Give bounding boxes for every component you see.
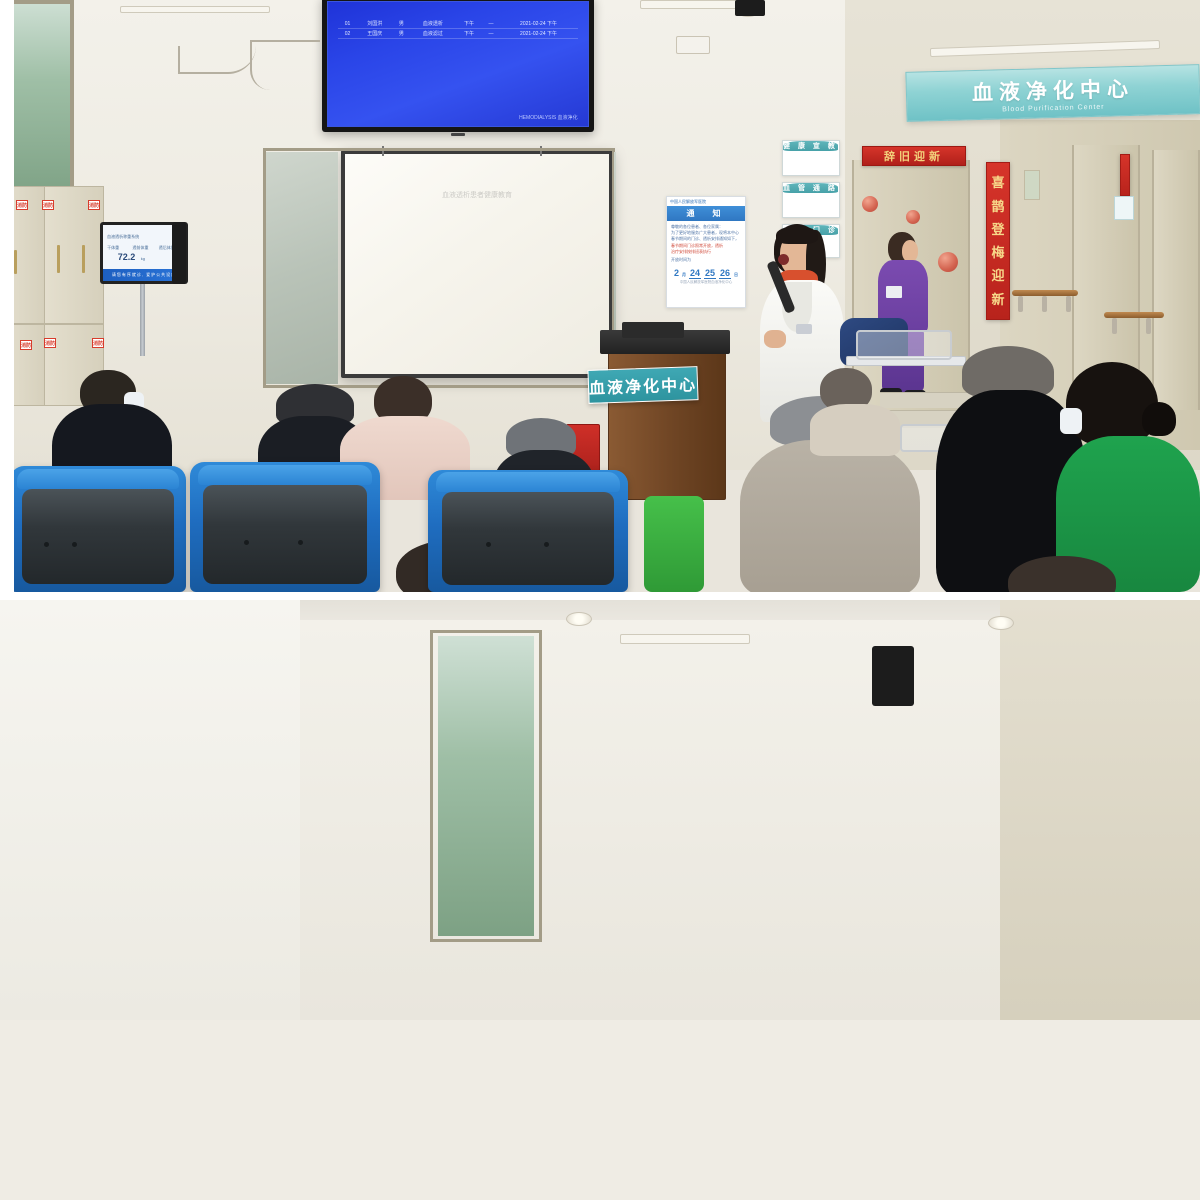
notice-poster: 中国人民解放军医院 通 知 尊敬的各位患者、各位家属： 为了更好地服务广大患者，… — [666, 196, 746, 308]
chair-backrest — [203, 485, 366, 584]
chair-back-lip — [17, 469, 179, 489]
door-notice — [1114, 196, 1134, 220]
badge — [796, 324, 812, 334]
waiting-chair[interactable] — [190, 462, 380, 592]
notice-highlight: 治疗安排按排班表执行 — [671, 249, 741, 255]
tv-watermark: HEMODIALYSIS 血液净化 — [519, 114, 578, 121]
cell-mode: 血液透析 — [410, 19, 456, 29]
month-unit: 月 — [682, 272, 686, 278]
chair-rivet — [298, 540, 303, 545]
wall-sign-card: 科室介绍 健 康 宣 教 — [782, 140, 840, 176]
couplet-char: 梅 — [991, 246, 1004, 259]
cell-shift: 下午 — [456, 19, 483, 29]
downlight-icon — [566, 612, 592, 626]
door-notice — [1024, 170, 1040, 200]
monitor-title: 血液透析称重系统 — [107, 234, 139, 240]
cell-name: 王国庆 — [357, 29, 393, 39]
date-value: 24 — [689, 268, 701, 279]
monitor-field: 干体重 — [107, 245, 119, 251]
couplet-char: 鹊 — [991, 200, 1004, 213]
ceiling-light-strip — [120, 6, 270, 13]
sign-label: 血 管 通 路 — [783, 183, 838, 193]
photo-collage: 01 刘国洪 男 血液透析 下午 — 2021-02-24 下午 02 王国庆 … — [0, 0, 1200, 1200]
hand — [764, 330, 786, 348]
knit-sweater — [740, 440, 920, 592]
cell-shift: 下午 — [456, 29, 483, 39]
lectern-sign: 血液净化中心 — [587, 366, 698, 404]
cable — [250, 40, 320, 90]
date-value: 26 — [719, 268, 731, 279]
cell-time: 2021-02-24 下午 — [500, 29, 578, 39]
ceiling-speaker — [735, 0, 765, 16]
couplet-char: 喜 — [991, 176, 1004, 189]
couplet-char: 新 — [991, 293, 1004, 306]
lectern-laptop[interactable] — [622, 322, 684, 338]
window-glass — [266, 152, 338, 384]
cell-bed: 01 — [338, 19, 356, 29]
notice-title: 通 知 — [667, 206, 745, 221]
fire-safety-label: 消防 — [88, 200, 100, 210]
wall-left — [0, 600, 300, 1020]
new-year-horizontal-scroll: 辞旧迎新 — [862, 146, 966, 166]
monitor-field: 透前体重 — [133, 245, 149, 251]
tv-patient-table: 01 刘国洪 男 血液透析 下午 — 2021-02-24 下午 02 王国庆 … — [338, 19, 577, 39]
notice-footer: 中国人民解放军医院血液净化中心 — [667, 280, 745, 287]
couplet-char: 登 — [991, 223, 1004, 236]
audience-member — [1008, 556, 1118, 592]
new-year-couplet: 喜 鹊 登 梅 迎 新 — [986, 162, 1010, 320]
table-row: 01 刘国洪 男 血液透析 下午 — 2021-02-24 下午 — [338, 19, 577, 29]
head — [1066, 362, 1158, 446]
notice-dates: 2 月 24 25 26 日 — [667, 266, 745, 280]
chair-rivet — [72, 542, 77, 547]
cell-status: — — [482, 29, 499, 39]
chair-rivet — [44, 542, 49, 547]
table-row: 02 王国庆 男 血液滤过 下午 — 2021-02-24 下午 — [338, 29, 577, 39]
cell-mode: 血液滤过 — [410, 29, 456, 39]
weight-unit: kg — [141, 256, 145, 261]
chair-rivet — [486, 542, 491, 547]
audience-member — [810, 368, 900, 448]
face-mask — [1060, 408, 1082, 434]
green-chair[interactable] — [644, 496, 704, 592]
locker-handle[interactable] — [14, 250, 17, 274]
hair-bun — [1142, 402, 1176, 436]
chair-backrest — [22, 489, 173, 585]
new-year-couplet-small — [1120, 154, 1130, 196]
couplet-char: 迎 — [991, 269, 1004, 282]
photo-top: 01 刘国洪 男 血液透析 下午 — 2021-02-24 下午 02 王国庆 … — [0, 0, 1200, 592]
cell-sex: 男 — [393, 29, 410, 39]
light-coat — [810, 404, 900, 456]
center-banner-cn: 血液净化中心 — [972, 72, 1135, 106]
cell-name: 刘国洪 — [357, 19, 393, 29]
new-year-sticker — [862, 196, 878, 212]
chair-backrest — [442, 492, 614, 585]
locker-handle[interactable] — [57, 245, 60, 273]
fire-safety-label: 消防 — [92, 338, 104, 348]
photo-bottom: 中国大学附属二院 2021-02-24 星期三 14:26 床号 姓名 治疗方式… — [0, 600, 1200, 1200]
cell-status: — — [482, 19, 499, 29]
handrail-post — [1042, 296, 1047, 312]
wall-right — [1000, 600, 1200, 1020]
fire-safety-label: 消防 — [42, 200, 54, 210]
new-year-sticker — [938, 252, 958, 272]
info-display-tv[interactable]: 01 刘国洪 男 血液透析 下午 — 2021-02-24 下午 02 王国庆 … — [322, 0, 594, 132]
tv-brand-mark — [451, 133, 465, 136]
window-frame — [430, 630, 542, 942]
ceiling-light-strip — [620, 634, 750, 644]
weight-value: 72.2 — [118, 252, 136, 262]
locker-handle[interactable] — [82, 245, 85, 273]
new-year-sticker — [906, 210, 920, 224]
cell-bed: 02 — [338, 29, 356, 39]
fire-safety-label: 消防 — [16, 200, 28, 210]
chair-rivet — [244, 540, 249, 545]
chair-rivet — [544, 542, 549, 547]
day-unit: 日 — [734, 272, 738, 278]
notice-body: 尊敬的各位患者、各位家属： 为了更好地服务广大患者，现将本中心 春节期间的门诊、… — [667, 221, 745, 266]
face — [902, 240, 918, 262]
monitor-stand-pole — [140, 284, 145, 356]
hospital-logo-text: 中国人民解放军医院 — [667, 197, 745, 206]
cell-time: 2021-02-24 下午 — [500, 19, 578, 29]
head — [1008, 556, 1116, 592]
monitor-side-unit — [172, 222, 186, 284]
cell-sex: 男 — [393, 19, 410, 29]
tv-screen: 01 刘国洪 男 血液透析 下午 — 2021-02-24 下午 02 王国庆 … — [327, 1, 589, 127]
waiting-chair[interactable] — [428, 470, 628, 592]
name-badge — [886, 286, 902, 298]
waiting-chair[interactable] — [10, 466, 186, 592]
date-value: 2 — [674, 268, 679, 278]
photo-left-margin — [0, 0, 14, 592]
downlight-icon — [988, 616, 1014, 630]
center-banner: 血液净化中心 Blood Purification Center — [905, 64, 1200, 122]
handrail-post — [1112, 318, 1117, 334]
notice-line: 春节期间的门诊、透析安排通知如下， — [671, 236, 741, 242]
chair-back-lip — [198, 465, 373, 486]
handrail-post — [1066, 296, 1071, 312]
ceiling-speaker — [872, 646, 914, 706]
notice-dates-label: 开放时间为 — [671, 257, 741, 263]
chair-back-lip — [436, 472, 620, 492]
hair-fringe — [776, 226, 818, 244]
fire-safety-label: 消防 — [44, 338, 56, 348]
sign-label: 健 康 宣 教 — [783, 141, 838, 151]
microphone-head — [778, 254, 789, 265]
wall-sign-card: 科室介绍 血 管 通 路 — [782, 182, 840, 218]
handrail-post — [1018, 296, 1023, 312]
date-value: 25 — [704, 268, 716, 279]
power-outlet — [676, 36, 710, 54]
center-banner-en: Blood Purification Center — [1002, 103, 1105, 113]
collage-gap — [0, 592, 1200, 600]
handrail-post — [1146, 318, 1151, 334]
fire-safety-label: 消防 — [20, 340, 32, 350]
